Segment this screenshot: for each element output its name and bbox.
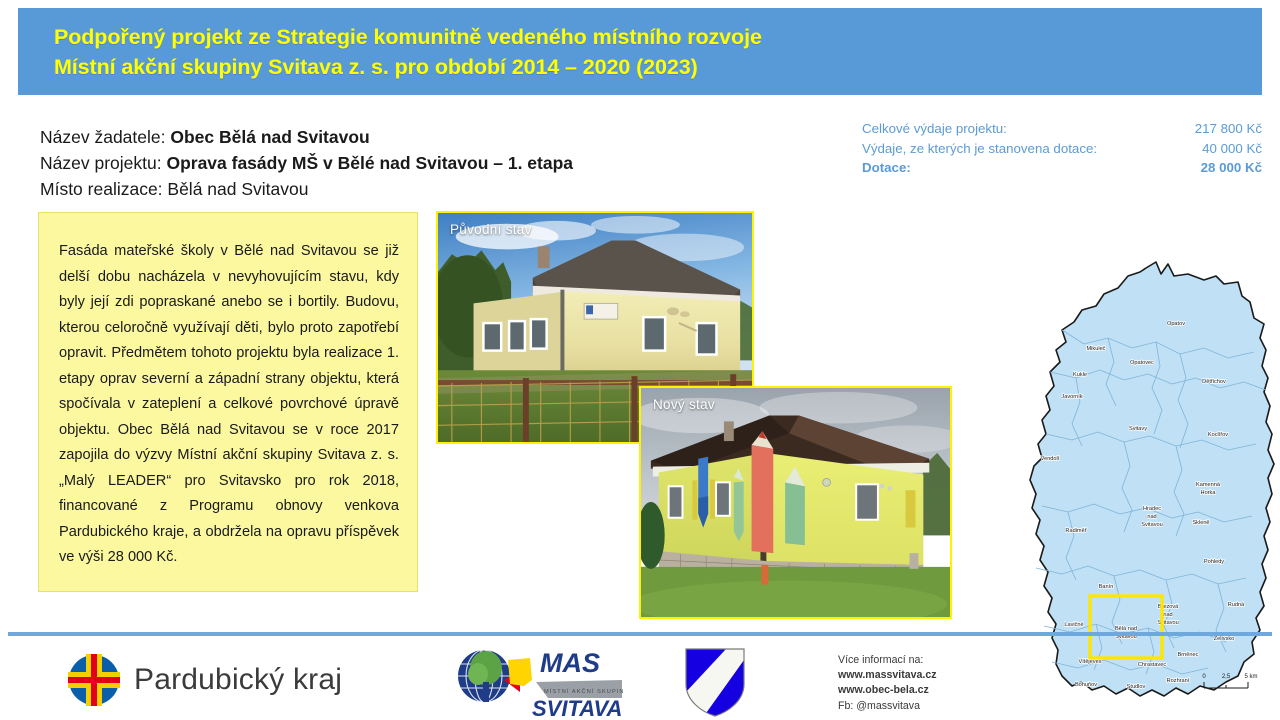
map-label-bohunov: Bohuňov: [1075, 682, 1097, 688]
map-label-pohledy: Pohledy: [1204, 559, 1224, 565]
map-label-detrichov: Dětřichov: [1202, 379, 1226, 385]
map-label-horka: Horka: [1201, 490, 1217, 496]
pardubicky-kraj-emblem-icon: [68, 654, 120, 706]
map-label-kamenna: Kamenná: [1196, 482, 1221, 488]
map-label-banin: Banín: [1099, 584, 1114, 590]
map-scale-tick-1: 2,5: [1222, 674, 1231, 680]
photo-after: Nový stav: [639, 386, 952, 619]
project-description-box: Fasáda mateřské školy v Bělé nad Svitavo…: [38, 212, 418, 592]
header-title-line2: Místní akční skupiny Svitava z. s. pro o…: [54, 52, 1262, 82]
photo-after-image: [641, 388, 950, 617]
finance-label-eligible: Výdaje, ze kterých je stanovena dotace:: [862, 139, 1097, 159]
map-label-studlov: Studlov: [1127, 684, 1146, 690]
applicant-value-location: Bělá nad Svitavou: [167, 179, 308, 199]
logo-pardubicky-kraj: Pardubický kraj: [68, 652, 358, 708]
logo-pardubicky-kraj-label: Pardubický kraj: [134, 663, 342, 697]
map-label-radimer: Radiměř: [1065, 528, 1086, 534]
map-label-mikulec: Mikuleč: [1087, 346, 1106, 352]
map-label-vendoli: Vendolí: [1041, 456, 1060, 462]
map-label-sklene: Skleně: [1192, 520, 1209, 526]
map-scale-tick-2: 5 km: [1244, 674, 1257, 680]
map-label-opatovec: Opatovec: [1130, 360, 1154, 366]
applicant-row-project: Název projektu: Oprava fasády MŠ v Bělé …: [40, 150, 700, 176]
applicant-info: Název žadatele: Obec Bělá nad Svitavou N…: [40, 124, 700, 202]
map-label-chrastavec: Chrastavec: [1138, 662, 1166, 668]
contact-facebook[interactable]: Fb: @massvitava: [838, 699, 1068, 714]
header-banner: Podpořený projekt ze Strategie komunitně…: [18, 8, 1262, 95]
applicant-value-project: Oprava fasády MŠ v Bělé nad Svitavou – 1…: [166, 153, 573, 173]
contact-web-obec[interactable]: www.obec-bela.cz: [838, 683, 1068, 698]
finance-value-eligible: 40 000 Kč: [1202, 139, 1262, 159]
finance-row-total: Celkové výdaje projektu: 217 800 Kč: [862, 119, 1262, 139]
map-label-hradec: Hradec: [1143, 506, 1161, 512]
logo-mas-svitava-graphic: MAS MÍSTNÍ AKČNÍ SKUPINA SVITAVA: [444, 642, 624, 720]
coat-of-arms-shield-icon: [682, 646, 748, 718]
map-label-lavicne: Lavičné: [1064, 622, 1083, 628]
map-label-brnenec: Brněnec: [1178, 652, 1199, 658]
map-label-rudna: Rudná: [1228, 602, 1245, 608]
logo-mas-subtitle: MÍSTNÍ AKČNÍ SKUPINA: [544, 688, 624, 695]
finance-label-subsidy: Dotace:: [862, 158, 911, 178]
logo-mas-svitava: MAS MÍSTNÍ AKČNÍ SKUPINA SVITAVA: [444, 642, 624, 720]
contact-heading: Více informací na:: [838, 653, 1068, 668]
contact-web-mas[interactable]: www.massvitava.cz: [838, 668, 1068, 683]
map-label-opatov: Opatov: [1167, 321, 1185, 327]
applicant-label-location: Místo realizace:: [40, 179, 167, 199]
finance-label-total: Celkové výdaje projektu:: [862, 119, 1007, 139]
header-title-line1: Podpořený projekt ze Strategie komunitně…: [54, 22, 1262, 52]
applicant-value-name: Obec Bělá nad Svitavou: [170, 127, 369, 147]
map-label-javornik: Javorník: [1061, 394, 1082, 400]
finance-value-total: 217 800 Kč: [1195, 119, 1262, 139]
applicant-row-location: Místo realizace: Bělá nad Svitavou: [40, 176, 700, 202]
project-description-text: Fasáda mateřské školy v Bělé nad Svitavo…: [59, 239, 399, 571]
finance-value-subsidy: 28 000 Kč: [1201, 158, 1262, 178]
logo-mas-name: SVITAVA: [532, 696, 622, 720]
map-label-vitejeves: Vítějeves: [1078, 659, 1101, 665]
applicant-label-project: Název projektu:: [40, 153, 166, 173]
applicant-row-name: Název žadatele: Obec Bělá nad Svitavou: [40, 124, 700, 150]
map-label-hradec-nad: nad: [1147, 514, 1156, 520]
finance-row-subsidy: Dotace: 28 000 Kč: [862, 158, 1262, 178]
logo-coat-of-arms: [682, 646, 748, 718]
map-label-brezova-nad: nad: [1163, 612, 1172, 618]
contact-info: Více informací na: www.massvitava.cz www…: [838, 653, 1068, 714]
map-label-koclirov: Koclířov: [1208, 432, 1228, 438]
map-label-hradec-svitavou: Svitavou: [1141, 522, 1162, 528]
map-label-kukle: Kukle: [1073, 372, 1087, 378]
map-label-svitavy: Svitavy: [1129, 426, 1147, 432]
logo-mas-title: MAS: [540, 648, 600, 678]
footer-divider: [8, 632, 1272, 636]
finance-row-eligible: Výdaje, ze kterých je stanovena dotace: …: [862, 139, 1262, 159]
applicant-label-name: Název žadatele:: [40, 127, 170, 147]
map-label-rozhrani: Rozhraní: [1167, 678, 1190, 684]
finance-summary: Celkové výdaje projektu: 217 800 Kč Výda…: [862, 119, 1262, 178]
